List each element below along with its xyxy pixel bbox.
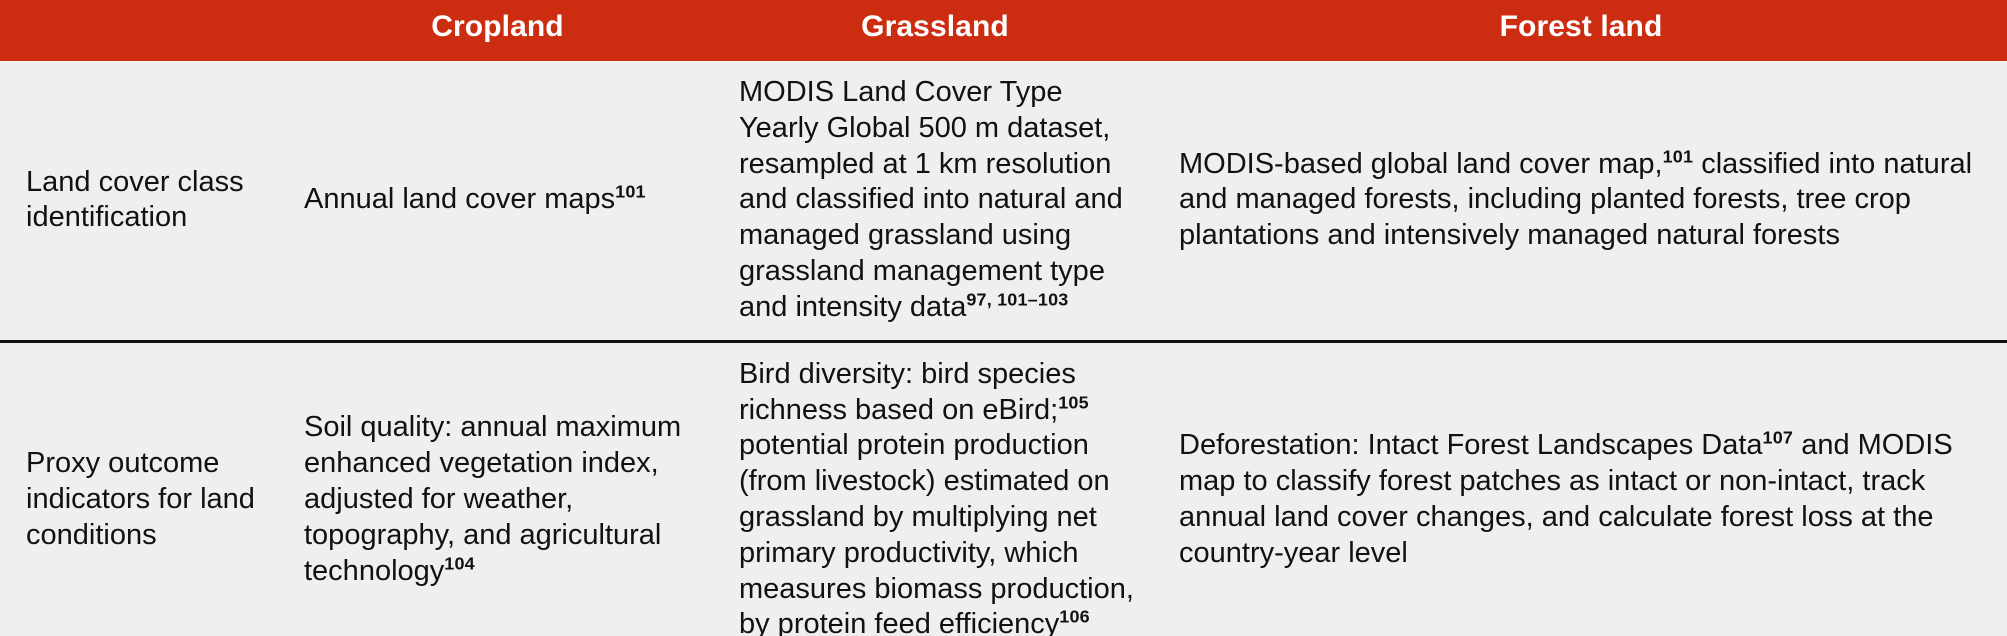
citation-ref: 101 — [1663, 146, 1694, 166]
cell-row1-forest-text: MODIS-based global land cover map,101 cl… — [1179, 147, 1987, 254]
cell-row2-cropland: Soil quality: annual maximum enhanced ve… — [280, 343, 715, 636]
table-container: Cropland Grassland Forest land Land cove… — [0, 0, 2007, 636]
cell-row2-grassland-body-before: Bird diversity: bird species richness ba… — [739, 358, 1076, 426]
cell-row1-cropland-text: Annual land cover maps101 — [304, 182, 695, 218]
cell-row2-grassland-body-after: potential protein production (from lives… — [739, 429, 1134, 636]
table-body: Land cover class identification Annual l… — [0, 56, 2007, 636]
cell-row2-cropland-body: Soil quality: annual maximum enhanced ve… — [304, 411, 681, 586]
cell-row1-grassland-text: MODIS Land Cover Type Yearly Global 500 … — [739, 75, 1135, 326]
citation-ref: 105 — [1058, 392, 1089, 412]
citation-ref: 106 — [1059, 607, 1090, 627]
header-cell-cropland: Cropland — [280, 0, 715, 56]
citation-ref: 107 — [1763, 428, 1794, 448]
cell-row1-cropland: Annual land cover maps101 — [280, 61, 715, 340]
cell-row2-cropland-text: Soil quality: annual maximum enhanced ve… — [304, 410, 695, 589]
citation-ref: 101 — [615, 182, 646, 202]
citation-ref: 104 — [444, 553, 475, 573]
cell-row1-cropland-body: Annual land cover maps — [304, 183, 615, 215]
cell-row2-grassland: Bird diversity: bird species richness ba… — [715, 343, 1155, 636]
cell-row2-forest-land: Deforestation: Intact Forest Landscapes … — [1155, 343, 2007, 636]
cell-row2-forest-body-before: Deforestation: Intact Forest Landscapes … — [1179, 429, 1763, 461]
cell-row2-forest-text: Deforestation: Intact Forest Landscapes … — [1179, 428, 1987, 571]
cell-row1-grassland-body: MODIS Land Cover Type Yearly Global 500 … — [739, 76, 1123, 323]
table-row: Proxy outcome indicators for land condit… — [0, 343, 2007, 636]
table-header: Cropland Grassland Forest land — [0, 0, 2007, 56]
row-label-proxy-outcome-indicators: Proxy outcome indicators for land condit… — [0, 343, 280, 636]
cell-row1-grassland: MODIS Land Cover Type Yearly Global 500 … — [715, 61, 1155, 340]
cell-row1-forest-body-before: MODIS-based global land cover map, — [1179, 148, 1663, 180]
header-cell-forest-land: Forest land — [1155, 0, 2007, 56]
cell-row1-forest-land: MODIS-based global land cover map,101 cl… — [1155, 61, 2007, 340]
table-row: Land cover class identification Annual l… — [0, 61, 2007, 340]
land-cover-methods-table: Cropland Grassland Forest land Land cove… — [0, 0, 2007, 636]
citation-ref: 97, 101–103 — [966, 289, 1068, 309]
header-row: Cropland Grassland Forest land — [0, 0, 2007, 56]
header-cell-row-label — [0, 0, 280, 56]
header-cell-grassland: Grassland — [715, 0, 1155, 56]
cell-row2-grassland-text: Bird diversity: bird species richness ba… — [739, 357, 1135, 636]
row-label-land-cover-class-identification: Land cover class identification — [0, 61, 280, 340]
